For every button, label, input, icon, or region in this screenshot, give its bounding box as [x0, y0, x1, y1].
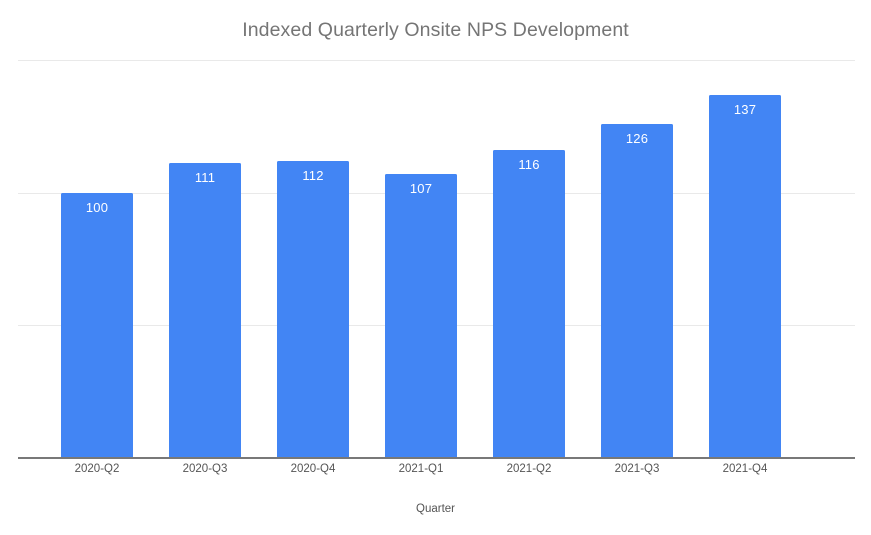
bar-group: 100	[61, 193, 133, 458]
bar-group: 107	[385, 174, 457, 458]
bar-value-label: 100	[61, 200, 133, 215]
bar[interactable]	[385, 174, 457, 458]
bar-group: 112	[277, 161, 349, 458]
bar-value-label: 137	[709, 102, 781, 117]
bar[interactable]	[61, 193, 133, 458]
bar-value-label: 112	[277, 168, 349, 183]
x-tick-label: 2021-Q4	[691, 463, 799, 475]
x-tick-label: 2021-Q2	[475, 463, 583, 475]
bar-group: 137	[709, 95, 781, 459]
bar[interactable]	[709, 95, 781, 459]
x-axis-line	[18, 457, 855, 459]
bar[interactable]	[493, 150, 565, 458]
bar[interactable]	[169, 163, 241, 458]
bar-value-label: 116	[493, 157, 565, 172]
x-tick-label: 2020-Q2	[43, 463, 151, 475]
bar-chart: Indexed Quarterly Onsite NPS Development…	[0, 0, 871, 535]
bar-value-label: 107	[385, 181, 457, 196]
bar-value-label: 126	[601, 131, 673, 146]
bar-group: 116	[493, 150, 565, 458]
plot-area: 100111112107116126137	[18, 60, 855, 459]
chart-title: Indexed Quarterly Onsite NPS Development	[0, 19, 871, 42]
x-tick-label: 2020-Q3	[151, 463, 259, 475]
x-tick-label: 2021-Q3	[583, 463, 691, 475]
bar-group: 111	[169, 163, 241, 458]
bar-value-label: 111	[169, 170, 241, 185]
x-axis-title: Quarter	[0, 503, 871, 515]
bar[interactable]	[277, 161, 349, 458]
bar[interactable]	[601, 124, 673, 458]
x-tick-label: 2020-Q4	[259, 463, 367, 475]
bar-group: 126	[601, 124, 673, 458]
bars-layer: 100111112107116126137	[18, 60, 855, 459]
x-axis-tick-labels: 2020-Q22020-Q32020-Q42021-Q12021-Q22021-…	[18, 463, 855, 485]
x-tick-label: 2021-Q1	[367, 463, 475, 475]
